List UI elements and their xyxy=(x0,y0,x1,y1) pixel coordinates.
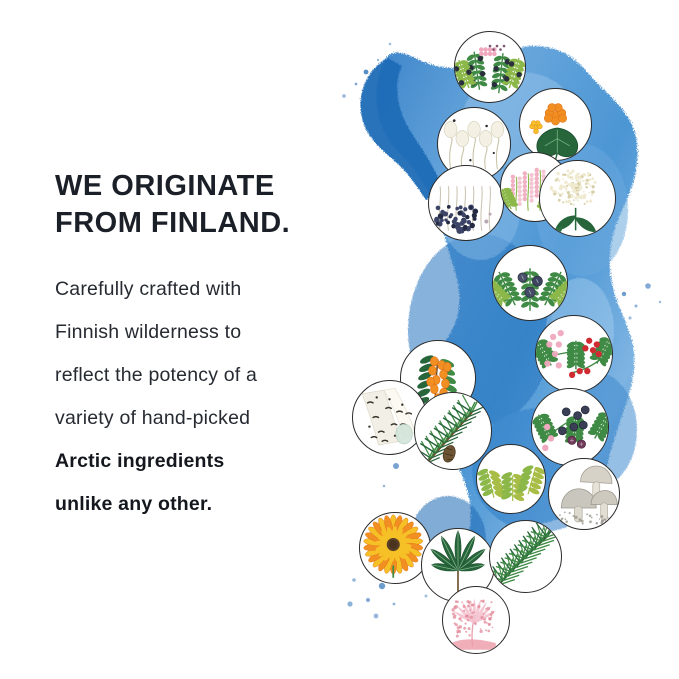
body-line: Arctic ingredients xyxy=(55,440,355,483)
medallion-cloudberry xyxy=(519,88,592,161)
medallion-juniper xyxy=(492,245,568,321)
medallion-pine-art xyxy=(415,393,491,469)
medallion-meadowsweet xyxy=(539,160,616,237)
poster-canvas: WE ORIGINATE FROM FINLAND. Carefully cra… xyxy=(0,0,679,679)
medallion-lingonberry-art xyxy=(536,316,612,392)
body-line: Finnish wilderness to xyxy=(55,311,355,354)
medallion-bilberry-art xyxy=(532,389,608,465)
medallion-calendula xyxy=(359,512,431,584)
medallion-heather xyxy=(454,31,526,103)
medallion-lingonberry xyxy=(535,315,613,393)
medallion-heather-art xyxy=(455,32,525,102)
medallion-mushroom xyxy=(548,458,620,530)
medallion-pink-algae xyxy=(442,586,510,654)
medallion-juniper-art xyxy=(493,246,567,320)
medallion-cloudberry-leaf xyxy=(476,444,546,514)
body-line: Carefully crafted with xyxy=(55,268,355,311)
body-copy: Carefully crafted with Finnish wildernes… xyxy=(55,268,355,526)
medallion-pink-algae-art xyxy=(443,587,509,653)
medallion-crowberry-art xyxy=(429,166,503,240)
body-line: variety of hand-picked xyxy=(55,397,355,440)
medallion-calendula-art xyxy=(360,513,430,583)
medallion-mushroom-art xyxy=(549,459,619,529)
medallion-meadowsweet-art xyxy=(540,161,615,236)
medallion-cloudberry-art xyxy=(520,89,591,160)
body-line: reflect the potency of a xyxy=(55,354,355,397)
body-line: unlike any other. xyxy=(55,483,355,526)
medallion-spruce-art xyxy=(490,521,561,592)
page-title: WE ORIGINATE FROM FINLAND. xyxy=(55,168,355,242)
headline-line-1: WE ORIGINATE xyxy=(55,168,355,205)
headline-line-2: FROM FINLAND. xyxy=(55,205,355,242)
medallion-pine xyxy=(414,392,492,470)
medallion-bilberry xyxy=(531,388,609,466)
medallion-crowberry xyxy=(428,165,504,241)
medallion-cloudberry-leaf-art xyxy=(477,445,545,513)
text-block: WE ORIGINATE FROM FINLAND. Carefully cra… xyxy=(55,168,355,526)
medallion-spruce xyxy=(489,520,562,593)
